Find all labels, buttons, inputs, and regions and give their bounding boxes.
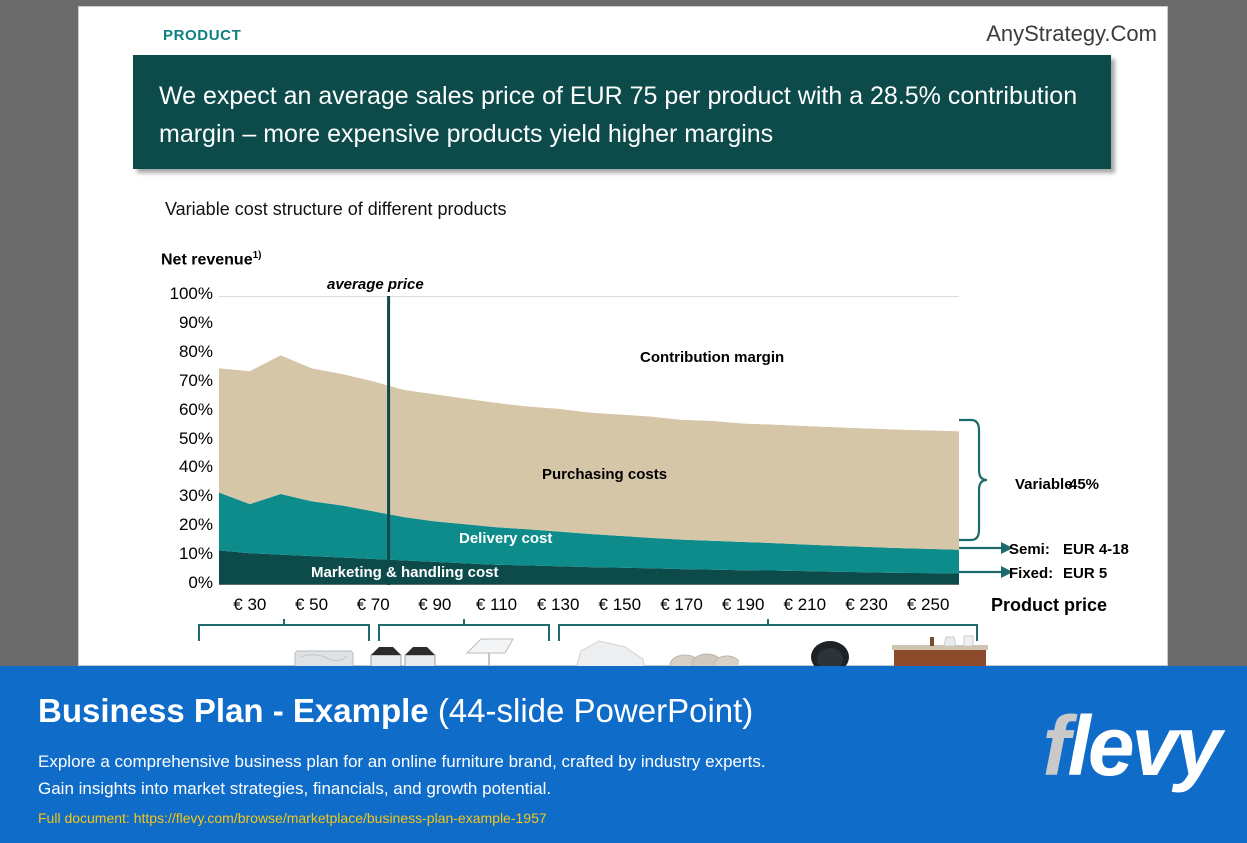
x-axis-tick-labels: € 30€ 50€ 70€ 90€ 110€ 130€ 150€ 170€ 19… bbox=[219, 595, 979, 619]
y-tick-90pct: 90% bbox=[179, 316, 213, 330]
x-tick-30: € 30 bbox=[233, 595, 266, 615]
annotation-semi-label: Semi: bbox=[1009, 541, 1063, 558]
footer-title-bold: Business Plan - Example bbox=[38, 692, 429, 729]
y-tick-100pct: 100% bbox=[170, 287, 213, 301]
x-tick-190: € 190 bbox=[722, 595, 765, 615]
layer-label-contribution-margin: Contribution margin bbox=[640, 349, 784, 366]
variable-brace-icon bbox=[959, 420, 987, 540]
chart-svg bbox=[219, 296, 959, 585]
footer-description-line1: Explore a comprehensive business plan fo… bbox=[38, 748, 766, 775]
annotation-variable-value: 45% bbox=[1069, 476, 1099, 493]
chart-areas bbox=[219, 296, 959, 585]
x-tick-170: € 170 bbox=[660, 595, 703, 615]
slide-panel: PRODUCT AnyStrategy.Com We expect an ave… bbox=[78, 6, 1168, 666]
footer-document-url[interactable]: Full document: https://flevy.com/browse/… bbox=[38, 810, 547, 826]
footer-description: Explore a comprehensive business plan fo… bbox=[38, 748, 766, 802]
annotation-semi-value: EUR 4-18 bbox=[1063, 541, 1129, 558]
y-tick-80pct: 80% bbox=[179, 345, 213, 359]
y-tick-50pct: 50% bbox=[179, 432, 213, 446]
y-axis-title-text: Net revenue bbox=[161, 251, 253, 268]
y-tick-70pct: 70% bbox=[179, 374, 213, 388]
y-tick-20pct: 20% bbox=[179, 518, 213, 532]
flevy-footer-banner: Business Plan - Example (44-slide PowerP… bbox=[0, 666, 1247, 843]
footer-title-rest: (44-slide PowerPoint) bbox=[429, 692, 754, 729]
y-tick-0pct: 0% bbox=[188, 576, 213, 590]
annotation-semi: Semi:EUR 4-18 bbox=[1009, 541, 1129, 558]
y-tick-40pct: 40% bbox=[179, 460, 213, 474]
flevy-logo-f: f bbox=[1043, 699, 1068, 793]
annotation-variable: Variable:45% bbox=[1015, 476, 1099, 493]
y-tick-30pct: 30% bbox=[179, 489, 213, 503]
x-tick-50: € 50 bbox=[295, 595, 328, 615]
annotation-fixed-label: Fixed: bbox=[1009, 565, 1063, 582]
y-axis-footnote: 1) bbox=[253, 250, 262, 261]
annotation-variable-label: Variable: bbox=[1015, 476, 1069, 493]
right-annotation-markers bbox=[957, 412, 1017, 582]
y-tick-60pct: 60% bbox=[179, 403, 213, 417]
footer-description-line2: Gain insights into market strategies, fi… bbox=[38, 775, 766, 802]
x-tick-210: € 210 bbox=[784, 595, 827, 615]
layer-label-delivery-cost: Delivery cost bbox=[459, 530, 552, 547]
y-axis-title: Net revenue1) bbox=[161, 250, 262, 269]
average-price-label: average price bbox=[327, 276, 424, 293]
x-axis-title: Product price bbox=[991, 595, 1107, 616]
y-tick-10pct: 10% bbox=[179, 547, 213, 561]
chart-plot-area bbox=[219, 296, 959, 585]
x-tick-90: € 90 bbox=[418, 595, 451, 615]
layer-label-purchasing-costs: Purchasing costs bbox=[542, 466, 667, 483]
flevy-logo-rest: levy bbox=[1068, 699, 1220, 793]
annotation-fixed-value: EUR 5 bbox=[1063, 565, 1107, 582]
annotation-fixed: Fixed:EUR 5 bbox=[1009, 565, 1107, 582]
y-axis-tick-labels: 100%90%80%70%60%50%40%30%20%10%0% bbox=[151, 287, 213, 587]
x-tick-130: € 130 bbox=[537, 595, 580, 615]
x-tick-70: € 70 bbox=[357, 595, 390, 615]
x-tick-150: € 150 bbox=[599, 595, 642, 615]
footer-title: Business Plan - Example (44-slide PowerP… bbox=[38, 692, 753, 730]
flevy-logo[interactable]: flevy bbox=[1043, 704, 1219, 788]
layer-label-marketing-handling-cost: Marketing & handling cost bbox=[311, 564, 499, 581]
x-tick-250: € 250 bbox=[907, 595, 950, 615]
x-tick-230: € 230 bbox=[845, 595, 888, 615]
area-chart: Net revenue1) average price 100%90%80%70… bbox=[79, 7, 1169, 667]
x-tick-110: € 110 bbox=[476, 595, 517, 615]
